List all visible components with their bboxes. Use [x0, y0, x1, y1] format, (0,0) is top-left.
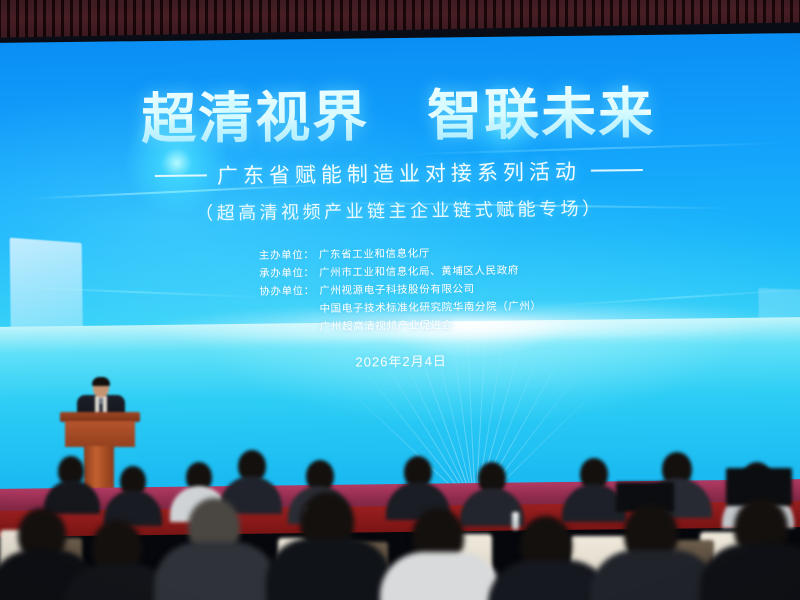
audience-shoulders — [44, 480, 100, 514]
subtitle-sub: （超高清视频产业链主企业链式赋能专场） — [0, 192, 800, 228]
organizer-label: 协办单位： — [259, 282, 319, 301]
water-bottle — [512, 512, 519, 530]
subtitle-main-text: 广东省赋能制造业对接系列活动 — [217, 156, 581, 190]
organizer-row: 承办单位：广州市工业和信息化局、黄埔区人民政府 — [259, 261, 541, 282]
organizer-row: 广州超高清视频产业促进会 — [260, 315, 542, 336]
subtitle-main: 广东省赋能制造业对接系列活动 — [0, 153, 800, 193]
organizer-label — [260, 330, 320, 331]
organizer-label: 承办单位： — [259, 264, 319, 283]
organizer-list: 主办单位：广东省工业和信息化厅 承办单位：广州市工业和信息化局、黄埔区人民政府 … — [259, 243, 542, 337]
audience-shoulders — [154, 542, 278, 600]
organizer-value: 广东省工业和信息化厅 — [319, 247, 430, 260]
dash-right — [591, 169, 643, 172]
organizer-label — [260, 312, 320, 313]
conference-photo: 超清视界 智联未来 广东省赋能制造业对接系列活动 （超高清视频产业链主企业链式赋… — [0, 0, 800, 600]
organizer-row: 中国电子技术标准化研究院华南分院（广州） — [259, 297, 541, 318]
speaker-hair — [92, 377, 110, 386]
screen-text-block: 超清视界 智联未来 广东省赋能制造业对接系列活动 （超高清视频产业链主企业链式赋… — [0, 33, 800, 375]
dash-left — [155, 174, 207, 177]
organizer-value: 广州市工业和信息化局、黄埔区人民政府 — [319, 264, 519, 278]
audience-area — [0, 446, 800, 600]
podium-body — [65, 421, 135, 447]
audience-shoulders — [590, 550, 718, 600]
organizer-label: 主办单位： — [259, 246, 319, 265]
main-title: 超清视界 智联未来 — [0, 83, 800, 151]
organizer-value: 广州视源电子科技股份有限公司 — [319, 283, 475, 297]
organizer-value: 中国电子技术标准化研究院华南分院（广州） — [319, 300, 541, 315]
audience-shoulders — [266, 538, 392, 600]
title-word-2: 智联未来 — [427, 85, 656, 146]
organizer-value: 广州超高清视频产业促进会 — [320, 319, 453, 333]
title-word-1: 超清视界 — [141, 88, 370, 149]
